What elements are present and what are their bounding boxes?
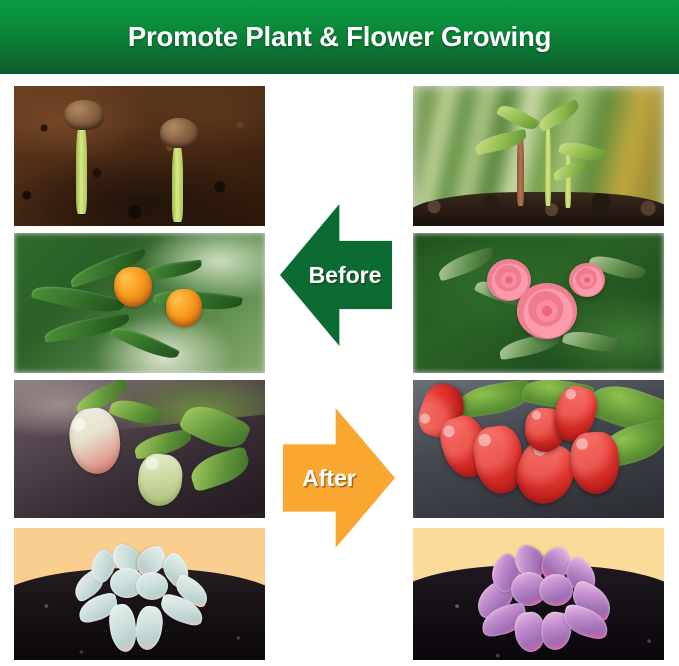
- photo-pink-roses: Three fully bloomed pink roses surrounde…: [413, 233, 664, 373]
- photo-pale-succulent: Pale bluish-green succulent rosette plan…: [14, 528, 265, 660]
- before-arrow-label: Before: [291, 262, 382, 289]
- photo-seed-sprouts: Two sprouting seeds with pale green stem…: [14, 86, 265, 226]
- after-arrow: After: [283, 408, 395, 548]
- rose-bloom-3: [569, 263, 605, 297]
- sprout-stem-left: [76, 122, 87, 214]
- promotional-image: Promote Plant & Flower Growing Two sprou…: [0, 0, 679, 666]
- orange-bud-2: [166, 289, 202, 327]
- seedling-stem-2: [545, 126, 551, 206]
- seed-husk-left: [64, 100, 104, 130]
- seed-husk-right: [160, 118, 198, 148]
- rose-bloom-2: [517, 283, 577, 339]
- photo-purple-succulent: Vivid purple and pink succulent rosette …: [413, 528, 664, 660]
- after-arrow-label: After: [302, 465, 376, 492]
- before-arrow: Before: [280, 204, 392, 346]
- succulent-center-2: [539, 574, 573, 606]
- page-title: Promote Plant & Flower Growing: [128, 21, 551, 53]
- photo-unripe-strawberries: Small pale unripe strawberries lying on …: [14, 380, 265, 518]
- photo-seedlings: Healthy green seedlings with broad leave…: [413, 86, 664, 226]
- soil-bed: [413, 192, 664, 226]
- soil-texture: [14, 86, 265, 226]
- seedling-stem-3: [565, 150, 571, 208]
- photo-flower-buds: Two unopened orange flower buds on a gre…: [14, 233, 265, 373]
- header-banner: Promote Plant & Flower Growing: [0, 0, 679, 74]
- photo-ripe-strawberries: A cluster of large ripe red strawberries…: [413, 380, 664, 518]
- orange-bud-1: [114, 267, 152, 307]
- sprout-stem-right: [172, 142, 183, 222]
